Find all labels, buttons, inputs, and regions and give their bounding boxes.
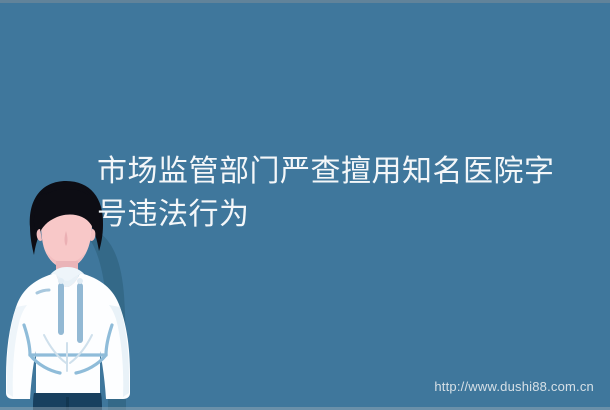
headline-text: 市场监管部门严查擅用知名医院字号违法行为 [97, 150, 583, 236]
watermark-url: http://www.dushi88.com.cn [434, 379, 594, 394]
news-poster: 市场监管部门严查擅用知名医院字号违法行为 http://www.dushi88.… [0, 0, 610, 410]
top-edge-strip [0, 0, 610, 3]
